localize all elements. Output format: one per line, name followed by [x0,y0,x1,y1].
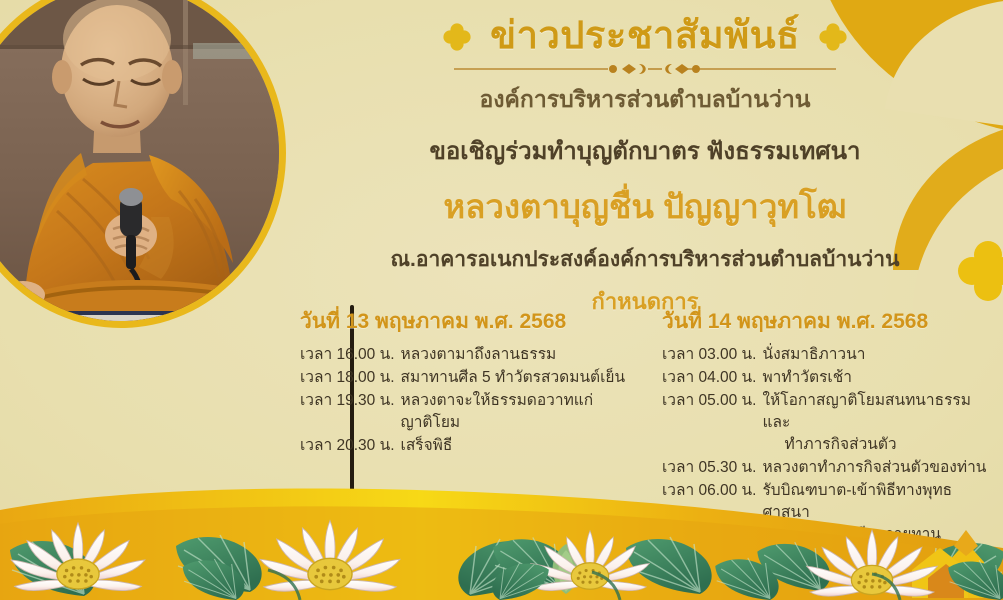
item-desc-line1: ให้โอกาสญาติโยมสนทนาธรรมและ [762,392,970,431]
item-time: เวลา 05.00 น. [662,390,757,456]
poster-header: ข่าวประชาสัมพันธ์ [300,16,990,319]
item-desc: ให้โอกาสญาติโยมสนทนาธรรมและ ทำภารกิจส่วน… [762,390,990,456]
day1-items: เวลา 16.00 น. หลวงตามาถึงลานธรรม เวลา 18… [300,344,632,457]
schedule-item: เวลา 19.30 น. หลวงตาจะให้ธรรมดอวาทแก่ญาต… [300,390,632,434]
item-desc: พาทำวัตรเช้า [762,367,990,389]
schedule-item: เวลา 03.00 น. นั่งสมาธิภาวนา [662,344,990,366]
item-desc: เสร็จพิธี [401,435,632,457]
item-desc: หลวงตามาถึงลานธรรม [401,344,632,366]
organization-name: องค์การบริหารส่วนตำบลบ้านว่าน [300,82,990,118]
page-title: ข่าวประชาสัมพันธ์ [490,16,800,58]
quatrefoil-flower-icon-left [442,22,472,52]
schedule-item: เวลา 16.00 น. หลวงตามาถึงลานธรรม [300,344,632,366]
decorative-rule-icon [450,62,840,76]
venue-line: ณ.อาคารอเนกประสงค์องค์การบริหารส่วนตำบลบ… [300,243,990,276]
item-time: เวลา 16.00 น. [300,344,395,366]
item-time: เวลา 18.00 น. [300,367,395,389]
schedule-item: เวลา 04.00 น. พาทำวัตรเช้า [662,367,990,389]
schedule-item: เวลา 18.00 น. สมาทานศีล 5 ทำวัตรสวดมนต์เ… [300,367,632,389]
item-desc-cont: ทำภารกิจส่วนตัว [762,434,990,456]
quatrefoil-flower-icon-right [818,22,848,52]
day1-heading: วันที่ 13 พฤษภาคม พ.ศ. 2568 [300,305,632,338]
item-desc: สมาทานศีล 5 ทำวัตรสวดมนต์เย็น [401,367,632,389]
item-desc: นั่งสมาธิภาวนา [762,344,990,366]
title-row: ข่าวประชาสัมพันธ์ [300,16,990,58]
item-time: เวลา 03.00 น. [662,344,757,366]
monk-name: หลวงตาบุญชื่น ปัญญาวุทโฒ [300,180,990,233]
schedule-item: เวลา 05.00 น. ให้โอกาสญาติโยมสนทนาธรรมแล… [662,390,990,456]
invitation-line: ขอเชิญร่วมทำบุญตักบาตร ฟังธรรมเทศนา [300,131,990,170]
poster-canvas: ข่าวประชาสัมพันธ์ [0,0,1003,600]
schedule-item: เวลา 20.30 น. เสร็จพิธี [300,435,632,457]
item-desc: หลวงตาจะให้ธรรมดอวาทแก่ญาติโยม [401,390,632,434]
item-time: เวลา 19.30 น. [300,390,395,434]
item-time: เวลา 04.00 น. [662,367,757,389]
day2-heading: วันที่ 14 พฤษภาคม พ.ศ. 2568 [662,305,990,338]
schedule-column-day1: วันที่ 13 พฤษภาคม พ.ศ. 2568 เวลา 16.00 น… [300,305,646,458]
lotus-flower-decoration [0,470,1003,600]
monk-portrait [0,0,286,328]
item-time: เวลา 20.30 น. [300,435,395,457]
